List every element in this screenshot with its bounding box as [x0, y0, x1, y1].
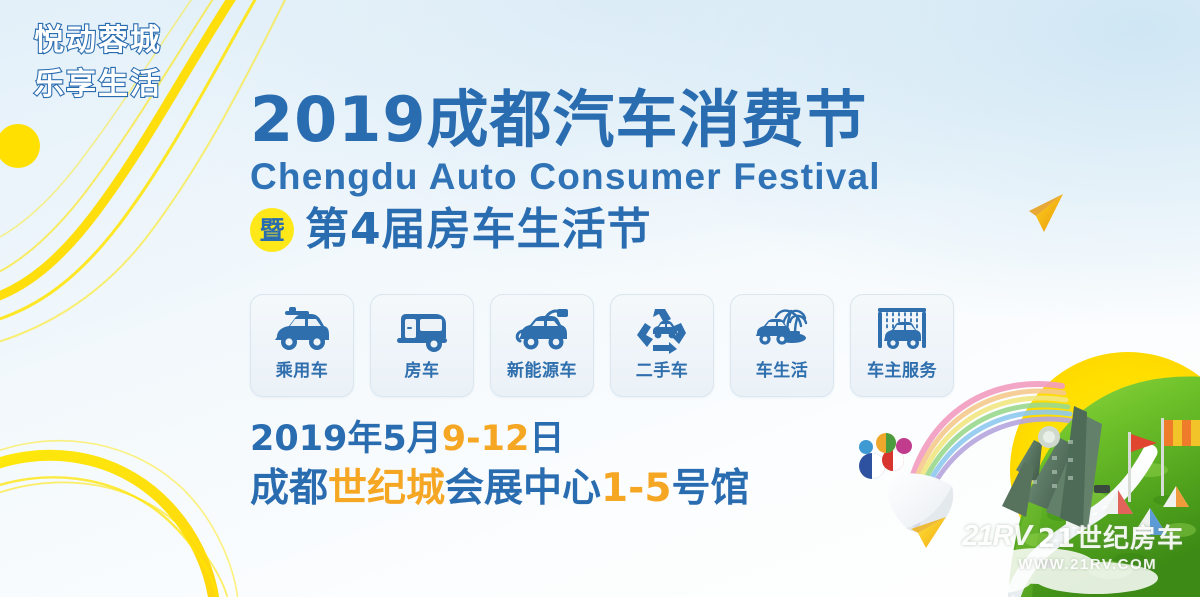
suv-car-icon [271, 305, 333, 357]
category-item-car-life[interactable]: 车生活 [730, 294, 834, 397]
category-item-passenger-car[interactable]: 乘用车 [250, 294, 354, 397]
subtitle-cn: 第4届房车生活节 [305, 208, 652, 252]
category-label: 新能源车 [507, 363, 577, 380]
poster-canvas: 悦动蓉城 乐享生活 2019成都汽车消费节 Chengdu Auto Consu… [0, 0, 1200, 597]
venue-part3: 号馆 [672, 466, 750, 511]
hot-air-balloon-cluster [859, 433, 912, 479]
road-signs [1054, 460, 1089, 512]
city-buildings-illustration [1002, 406, 1102, 528]
headline-block: 2019成都汽车消费节 Chengdu Auto Consumer Festiv… [250, 88, 881, 252]
page-title: 2019成都汽车消费节 [250, 88, 881, 152]
slogan-line-1: 悦动蓉城 [34, 23, 162, 58]
category-list: 乘用车 房车 [250, 294, 954, 397]
venue-part2: 会展中心 [445, 466, 601, 511]
category-item-rv[interactable]: 房车 [370, 294, 474, 397]
category-label: 二手车 [636, 363, 689, 380]
event-venue: 成都世纪城会展中心1-5号馆 [250, 465, 750, 513]
slogan-block: 悦动蓉城 乐享生活 [30, 18, 220, 110]
category-item-used-car[interactable]: 二手车 [610, 294, 714, 397]
yellow-dot-icon [0, 124, 40, 168]
white-ribbon-banner [886, 473, 952, 528]
event-info-block: 2019年5月9-12日 成都世纪城会展中心1-5号馆 [250, 418, 750, 514]
car-wash-icon [871, 305, 933, 357]
category-label: 车生活 [756, 363, 809, 380]
rv-caravan-icon [391, 305, 453, 357]
electric-car-plug-icon [511, 305, 573, 357]
yellow-swirl-lines-bottom [0, 441, 238, 597]
subtitle-row: 暨 第4届房车生活节 [250, 208, 881, 252]
rainbow-arc [906, 384, 1072, 529]
page-subtitle-en: Chengdu Auto Consumer Festival [250, 156, 881, 199]
recycle-car-icon [631, 305, 693, 357]
paper-plane-icon-top [1029, 194, 1063, 232]
watermark: 21RV 21世纪房车 WWW.21RV.COM [962, 518, 1184, 573]
venue-highlight1: 世纪城 [328, 466, 445, 511]
watermark-row: 21RV 21世纪房车 [962, 518, 1184, 555]
brand-url: WWW.21RV.COM [1018, 556, 1157, 573]
venue-part1: 成都 [250, 466, 328, 511]
slogan-line-2: 乐享生活 [34, 67, 162, 102]
palm-tree-car-icon [751, 305, 813, 357]
category-item-new-energy[interactable]: 新能源车 [490, 294, 594, 397]
date-highlight: 9-12 [442, 419, 530, 459]
category-item-owner-service[interactable]: 车主服务 [850, 294, 954, 397]
festival-flags [1128, 418, 1200, 502]
date-prefix: 2019年5月 [250, 419, 442, 459]
venue-highlight2: 1-5 [601, 466, 671, 511]
category-label: 车主服务 [867, 363, 937, 380]
category-label: 房车 [405, 363, 440, 380]
date-suffix: 日 [529, 419, 564, 459]
category-label: 乘用车 [276, 363, 329, 380]
brand-name-cn: 21世纪房车 [1038, 518, 1184, 555]
brand-logo-21rv: 21RV [962, 520, 1031, 553]
paper-plane-icon-bottom [911, 517, 946, 548]
event-date: 2019年5月9-12日 [250, 418, 750, 461]
ji-badge: 暨 [250, 208, 294, 252]
